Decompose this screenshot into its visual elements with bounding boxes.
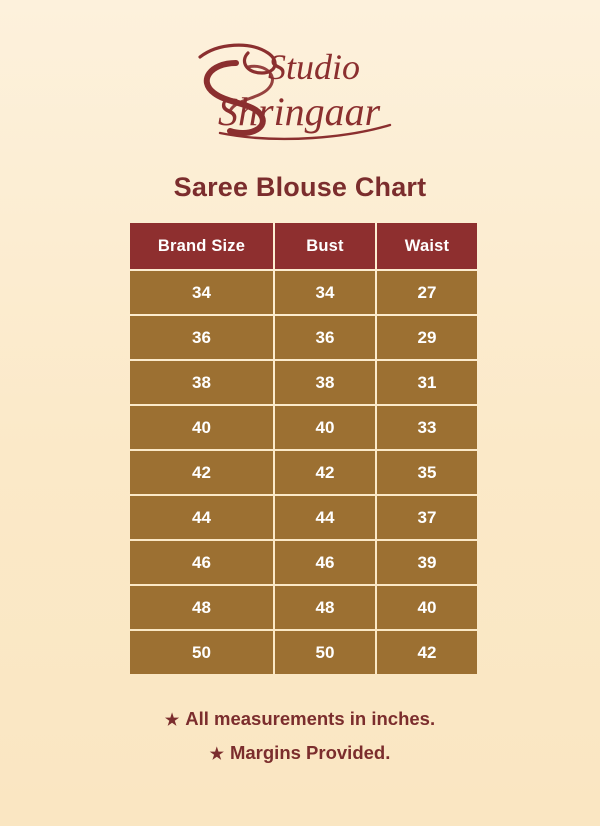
table-row: 42 42 35: [130, 451, 477, 494]
cell-bust: 34: [275, 271, 375, 314]
logo-text-studio: Studio: [268, 47, 360, 87]
table-row: 40 40 33: [130, 406, 477, 449]
table-row: 46 46 39: [130, 541, 477, 584]
cell-brand-size: 40: [130, 406, 273, 449]
size-chart-page: Studio Shringaar Saree Blouse Chart Bran…: [0, 0, 600, 826]
cell-brand-size: 50: [130, 631, 273, 674]
page-title: Saree Blouse Chart: [0, 172, 600, 203]
cell-brand-size: 44: [130, 496, 273, 539]
note-measurements: ★All measurements in inches.: [0, 703, 600, 737]
size-table: Brand Size Bust Waist 34 34 27 36 36 29 …: [128, 221, 479, 676]
column-header-bust: Bust: [275, 223, 375, 269]
cell-waist: 29: [377, 316, 477, 359]
table-row: 44 44 37: [130, 496, 477, 539]
cell-waist: 35: [377, 451, 477, 494]
cell-brand-size: 42: [130, 451, 273, 494]
table-header-row: Brand Size Bust Waist: [130, 223, 477, 269]
table-row: 50 50 42: [130, 631, 477, 674]
notes-section: ★All measurements in inches. ★Margins Pr…: [0, 703, 600, 771]
note-margins: ★Margins Provided.: [0, 737, 600, 771]
cell-waist: 42: [377, 631, 477, 674]
cell-waist: 37: [377, 496, 477, 539]
cell-brand-size: 46: [130, 541, 273, 584]
cell-waist: 39: [377, 541, 477, 584]
cell-bust: 44: [275, 496, 375, 539]
star-icon: ★: [210, 746, 224, 763]
star-icon: ★: [165, 712, 179, 729]
table-row: 34 34 27: [130, 271, 477, 314]
note-measurements-text: All measurements in inches.: [185, 708, 435, 729]
column-header-waist: Waist: [377, 223, 477, 269]
cell-brand-size: 48: [130, 586, 273, 629]
cell-bust: 38: [275, 361, 375, 404]
cell-bust: 50: [275, 631, 375, 674]
table-row: 48 48 40: [130, 586, 477, 629]
cell-bust: 48: [275, 586, 375, 629]
studio-shringaar-logo-icon: Studio Shringaar: [140, 33, 460, 143]
note-margins-text: Margins Provided.: [230, 742, 390, 763]
column-header-brand-size: Brand Size: [130, 223, 273, 269]
cell-waist: 31: [377, 361, 477, 404]
logo-text-shringaar: Shringaar: [218, 89, 381, 134]
cell-brand-size: 34: [130, 271, 273, 314]
table-row: 36 36 29: [130, 316, 477, 359]
table-row: 38 38 31: [130, 361, 477, 404]
cell-bust: 40: [275, 406, 375, 449]
cell-bust: 46: [275, 541, 375, 584]
cell-waist: 40: [377, 586, 477, 629]
cell-brand-size: 38: [130, 361, 273, 404]
size-table-wrapper: Brand Size Bust Waist 34 34 27 36 36 29 …: [128, 221, 473, 676]
cell-waist: 27: [377, 271, 477, 314]
brand-logo: Studio Shringaar: [0, 30, 600, 145]
cell-brand-size: 36: [130, 316, 273, 359]
cell-waist: 33: [377, 406, 477, 449]
cell-bust: 42: [275, 451, 375, 494]
cell-bust: 36: [275, 316, 375, 359]
